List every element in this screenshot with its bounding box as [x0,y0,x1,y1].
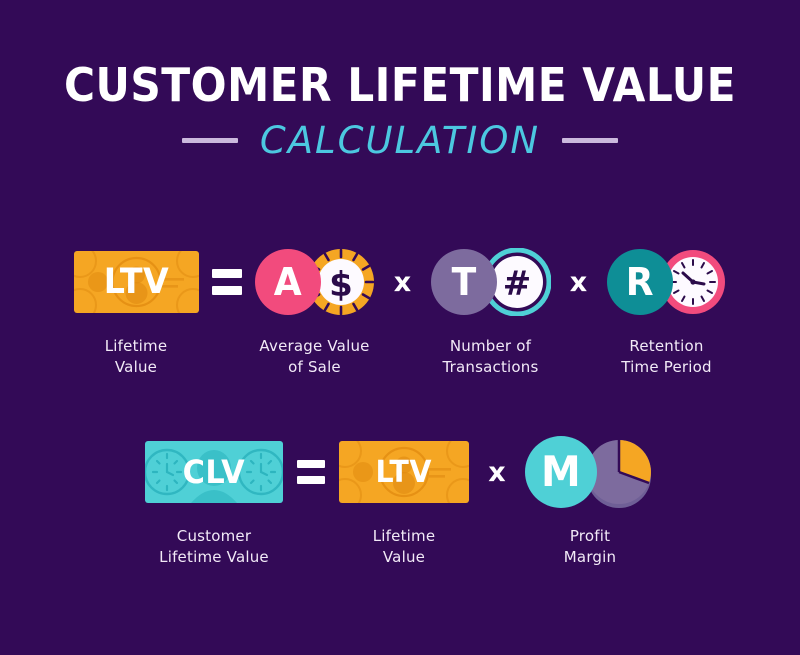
icon-pair-average-value: $ A [255,242,375,322]
banknote-icon: CLV [145,441,283,503]
badge-letter: M [541,451,581,493]
infographic-canvas: CUSTOMER LIFETIME VALUE CALCULATION [0,0,800,655]
icon-pair-profit-margin: M [525,432,655,512]
times-icon: x [394,267,411,298]
term-label-average-value-of-sale: Average Value of Sale [259,336,369,377]
term-clv: CLV Customer Lifetime Value [145,432,283,567]
term-label-retention-time-period: Retention Time Period [621,336,711,377]
svg-text:$: $ [329,265,353,305]
svg-text:#: # [502,264,531,304]
badge-average-value: A [255,249,321,315]
term-label-ltv-second: Lifetime Value [373,526,436,567]
term-number-of-transactions: # T Number of Transactions [431,242,551,377]
subtitle-row: CALCULATION [0,122,800,159]
operator-times-3: x [469,432,525,512]
equals-icon [212,269,242,295]
term-label-ltv: Lifetime Value [105,336,168,377]
operator-times-1: x [375,242,431,322]
operator-equals [199,242,255,322]
icon-pair-transactions: # T [431,242,551,322]
times-icon: x [488,457,505,488]
ltv-equation-row: LTV Lifetime Value [0,242,800,377]
clv-equation-row: CLV Customer Lifetime Value [0,432,800,567]
badge-transactions: T [431,249,497,315]
badge-letter: T [451,263,476,301]
term-ltv: LTV Lifetime Value [74,242,199,377]
page-title: CUSTOMER LIFETIME VALUE [32,62,768,108]
term-label-profit-margin: Profit Margin [564,526,616,567]
term-profit-margin: M Profit Margin [525,432,655,567]
term-label-number-of-transactions: Number of Transactions [442,336,538,377]
badge-profit-margin: M [525,436,597,508]
term-ltv-second: LTV Lifetime Value [339,432,469,567]
badge-letter: R [626,263,654,301]
banknote-label: LTV [376,455,432,490]
header-block: CUSTOMER LIFETIME VALUE CALCULATION [0,62,800,159]
term-average-value-of-sale: $ A Average Value of Sale [255,242,375,377]
icon-pair-retention: R [607,242,727,322]
term-retention-time-period: R Retention Time Period [607,242,727,377]
term-label-clv: Customer Lifetime Value [159,526,269,567]
dash-left-icon [182,138,238,143]
banknote-label: CLV [183,453,245,491]
badge-retention: R [607,249,673,315]
operator-equals-2 [283,432,339,512]
page-subtitle: CALCULATION [260,122,540,159]
banknote-label: LTV [103,262,169,302]
dash-right-icon [562,138,618,143]
badge-letter: A [274,263,302,301]
banknote-icon: LTV [339,441,469,503]
equals-icon [297,460,325,484]
operator-times-2: x [551,242,607,322]
banknote-icon: LTV [74,251,199,313]
times-icon: x [570,267,587,298]
